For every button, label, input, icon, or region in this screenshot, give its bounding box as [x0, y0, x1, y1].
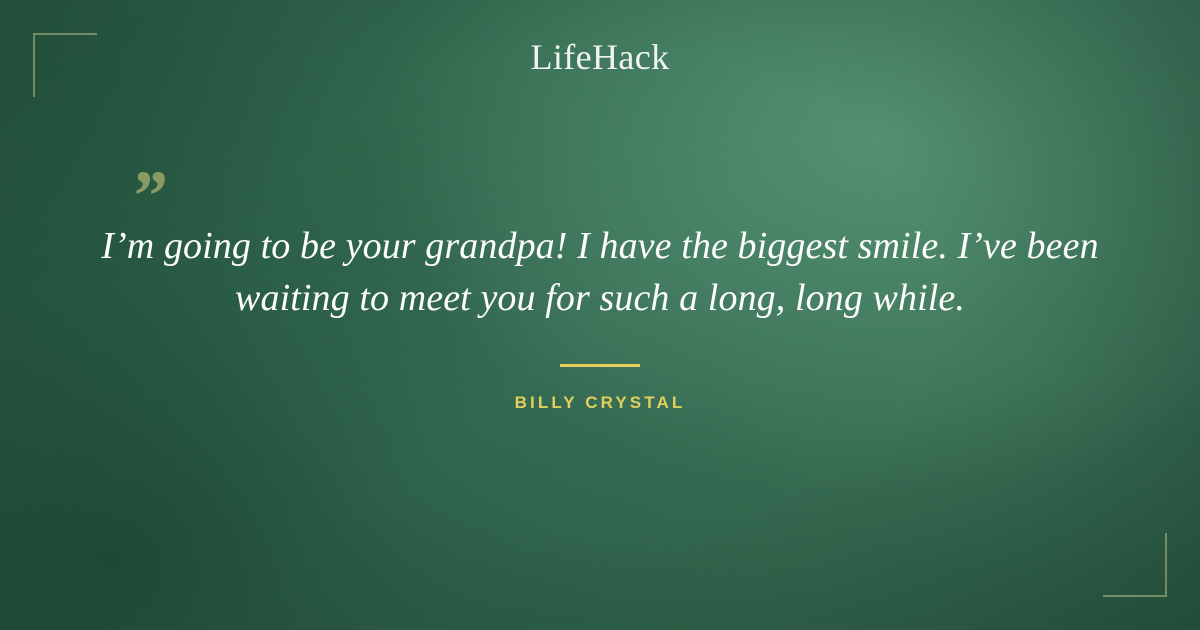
brand-logo: LifeHack — [0, 39, 1200, 75]
quotation-mark-icon: ” — [130, 160, 164, 232]
quote-author: BILLY CRYSTAL — [0, 393, 1200, 413]
divider — [560, 364, 640, 367]
corner-bracket-bottom-right-icon — [1103, 533, 1167, 597]
quote-text: I’m going to be your grandpa! I have the… — [100, 150, 1100, 324]
quote-block: ” I’m going to be your grandpa! I have t… — [0, 150, 1200, 413]
quote-card: LifeHack ” I’m going to be your grandpa!… — [0, 0, 1200, 630]
